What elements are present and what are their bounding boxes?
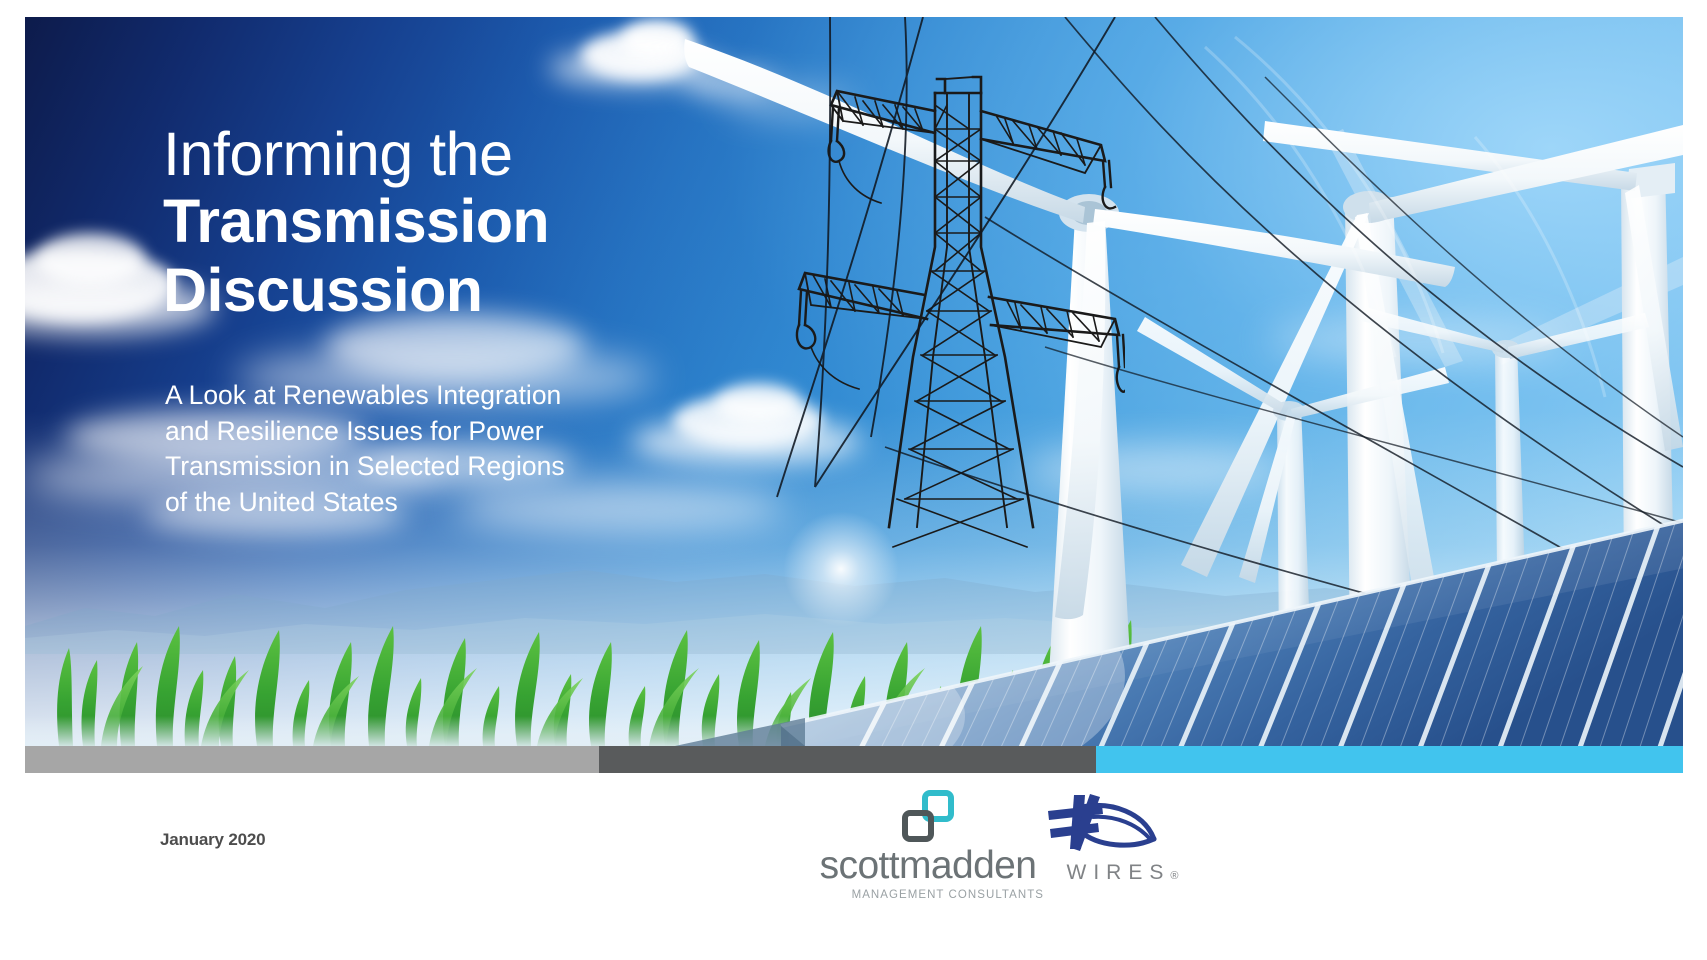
- scottmadden-wordmark: scottmadden: [808, 846, 1048, 885]
- subtitle-line-2: and Resilience Issues for Power: [165, 414, 635, 450]
- wires-wordmark: WIRES®: [1040, 862, 1205, 883]
- title-line-1: Informing the: [163, 122, 723, 187]
- scottmadden-tagline: MANAGEMENT CONSULTANTS: [808, 889, 1048, 901]
- subtitle-line-1: A Look at Renewables Integration: [165, 378, 635, 414]
- registered-mark-icon: ®: [1170, 870, 1185, 882]
- subtitle-line-4: of the United States: [165, 485, 635, 521]
- wires-mark-icon: [1040, 793, 1160, 855]
- color-bar-segment-cyan: [1096, 746, 1683, 773]
- color-bar-segment-dark-gray: [599, 746, 1096, 773]
- title-slide: Informing the Transmission Discussion A …: [0, 0, 1707, 960]
- scottmadden-mark-icon: [902, 790, 954, 842]
- title-block: Informing the Transmission Discussion: [163, 122, 723, 324]
- scottmadden-square-gray-icon: [902, 810, 934, 842]
- date-label: January 2020: [160, 830, 265, 850]
- scottmadden-logo: scottmadden MANAGEMENT CONSULTANTS: [808, 790, 1048, 900]
- accent-color-bar: [25, 746, 1683, 773]
- subtitle-block: A Look at Renewables Integration and Res…: [165, 378, 635, 521]
- title-line-2: Transmission: [163, 187, 723, 255]
- subtitle-line-3: Transmission in Selected Regions: [165, 449, 635, 485]
- color-bar-segment-light-gray: [25, 746, 599, 773]
- solar-panel-secondary: [675, 666, 805, 746]
- solar-panel-array: [685, 426, 1683, 746]
- wires-logo: WIRES®: [1040, 793, 1205, 898]
- wires-wordmark-text: WIRES: [1067, 861, 1171, 884]
- title-line-3: Discussion: [163, 256, 723, 324]
